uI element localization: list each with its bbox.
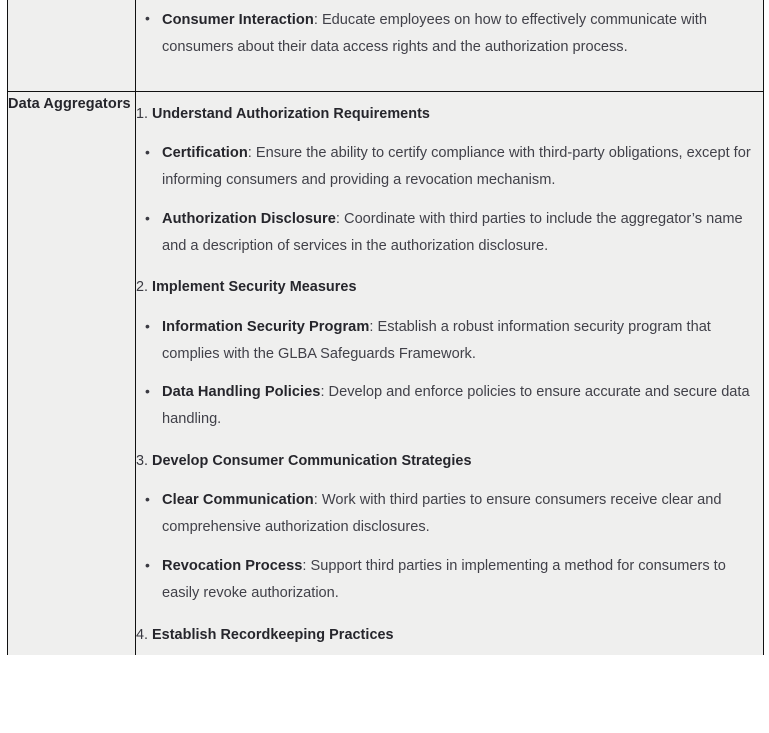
- section-title: Understand Authorization Requirements: [152, 103, 430, 125]
- bullet-term: Certification: [162, 145, 248, 161]
- role-cell: Data Aggregators: [8, 91, 136, 655]
- section-number: 2.: [136, 276, 152, 298]
- section-title: Develop Consumer Communication Strategie…: [152, 450, 472, 472]
- bullet-term: Revocation Process: [162, 558, 302, 574]
- list-item: Data Handling Policies: Develop and enfo…: [136, 373, 763, 439]
- list-item: Clear Communication: Work with third par…: [136, 481, 763, 547]
- section-number: 4.: [136, 624, 152, 646]
- bullet-separator: :: [314, 12, 322, 28]
- bullet-list: Information Security Program: Establish …: [136, 308, 763, 439]
- compliance-requirements-table: Consumer Interaction: Educate employees …: [7, 0, 764, 655]
- table-row: Data Aggregators 1. Understand Authoriza…: [8, 91, 764, 655]
- list-item: Certification: Ensure the ability to cer…: [136, 134, 763, 200]
- table-body: Consumer Interaction: Educate employees …: [8, 0, 764, 655]
- section-title: Establish Recordkeeping Practices: [152, 624, 394, 646]
- section-heading: 1. Understand Authorization Requirements: [136, 92, 763, 134]
- bullet-list: Clear Communication: Work with third par…: [136, 481, 763, 612]
- section-heading: 4. Establish Recordkeeping Practices: [136, 613, 763, 655]
- actions-cell: 1. Understand Authorization Requirements…: [136, 91, 764, 655]
- list-item: Revocation Process: Support third partie…: [136, 547, 763, 613]
- list-item: Authorization Disclosure: Coordinate wit…: [136, 200, 763, 266]
- section-title: Implement Security Measures: [152, 276, 357, 298]
- list-item: Information Security Program: Establish …: [136, 308, 763, 374]
- table-row: Consumer Interaction: Educate employees …: [8, 0, 764, 91]
- section-heading: 3. Develop Consumer Communication Strate…: [136, 439, 763, 481]
- bullet-term: Consumer Interaction: [162, 12, 314, 28]
- list-item: Consumer Interaction: Educate employees …: [136, 0, 763, 67]
- bullet-term: Clear Communication: [162, 492, 314, 508]
- bullet-separator: :: [336, 211, 344, 227]
- bullet-separator: :: [248, 145, 256, 161]
- bullet-term: Data Handling Policies: [162, 384, 320, 400]
- section-number: 3.: [136, 450, 152, 472]
- document-page: Consumer Interaction: Educate employees …: [0, 0, 769, 733]
- role-label: Data Aggregators: [8, 92, 135, 118]
- bullet-list: Consumer Interaction: Educate employees …: [136, 0, 763, 91]
- bullet-list: Certification: Ensure the ability to cer…: [136, 134, 763, 265]
- section-number: 1.: [136, 103, 152, 125]
- bullet-term: Information Security Program: [162, 319, 369, 335]
- actions-cell: Consumer Interaction: Educate employees …: [136, 0, 764, 91]
- section-heading: 2. Implement Security Measures: [136, 265, 763, 307]
- bullet-separator: :: [314, 492, 322, 508]
- bullet-term: Authorization Disclosure: [162, 211, 336, 227]
- role-cell: [8, 0, 136, 91]
- bullet-separator: :: [320, 384, 328, 400]
- bullet-separator: :: [302, 558, 310, 574]
